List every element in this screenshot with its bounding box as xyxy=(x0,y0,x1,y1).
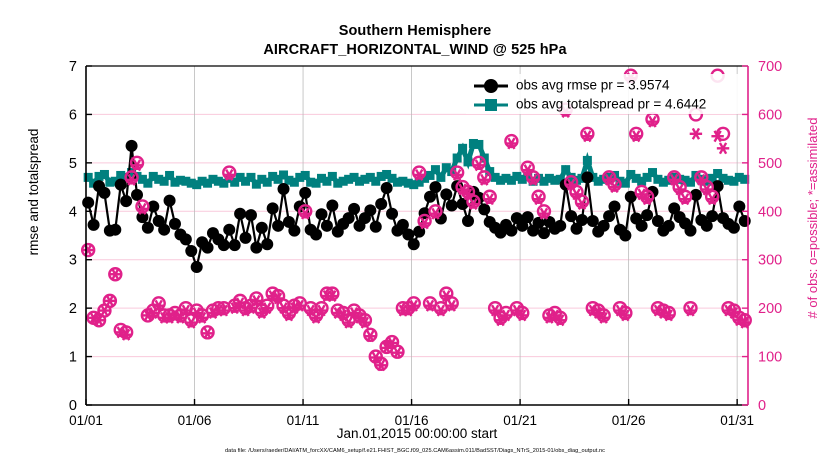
marker-totalspread xyxy=(458,144,467,153)
tick-label-left: 2 xyxy=(69,301,77,317)
marker-rmse xyxy=(505,225,517,237)
marker-obs-assimilated xyxy=(717,143,729,154)
marker-rmse xyxy=(169,218,181,230)
marker-rmse xyxy=(131,189,143,201)
marker-rmse xyxy=(191,261,203,273)
marker-rmse xyxy=(576,214,588,226)
marker-totalspread xyxy=(100,170,109,179)
legend-label: obs avg totalspread pr = 4.6442 xyxy=(516,97,706,112)
marker-rmse xyxy=(706,210,718,222)
legend-label: obs avg rmse pr = 3.9574 xyxy=(516,78,670,93)
marker-rmse xyxy=(202,242,214,254)
marker-rmse xyxy=(641,209,653,221)
tick-label-right: 500 xyxy=(758,156,782,172)
marker-rmse xyxy=(326,199,338,211)
marker-rmse xyxy=(348,203,360,215)
tick-label-x: 01/26 xyxy=(612,413,646,428)
marker-rmse xyxy=(229,239,241,251)
tick-label-left: 1 xyxy=(69,350,77,366)
marker-rmse xyxy=(158,224,170,236)
tick-label-right: 700 xyxy=(758,59,782,75)
marker-totalspread xyxy=(431,165,440,174)
marker-rmse xyxy=(267,202,279,214)
marker-rmse xyxy=(370,221,382,233)
marker-rmse xyxy=(310,229,322,241)
marker-totalspread xyxy=(453,154,462,163)
marker-rmse xyxy=(299,187,311,199)
marker-obs-assimilated xyxy=(690,128,702,139)
marker-rmse xyxy=(386,208,398,220)
marker-totalspread xyxy=(561,165,570,174)
marker-rmse xyxy=(462,215,474,227)
tick-label-x: 01/01 xyxy=(69,413,103,428)
marker-rmse xyxy=(478,203,490,215)
marker-rmse xyxy=(120,195,132,207)
marker-rmse xyxy=(728,222,740,234)
marker-rmse xyxy=(554,220,566,232)
marker-rmse xyxy=(663,220,675,232)
tick-label-right: 100 xyxy=(758,350,782,366)
marker-rmse xyxy=(98,187,110,199)
marker-rmse xyxy=(364,204,376,216)
plot-canvas: 01234567010020030040050060070001/0101/06… xyxy=(0,0,830,470)
marker-rmse xyxy=(218,239,230,251)
tick-label-x: 01/16 xyxy=(395,413,429,428)
marker-rmse xyxy=(109,224,121,236)
marker-rmse xyxy=(636,220,648,232)
marker-rmse xyxy=(115,179,127,191)
marker-rmse xyxy=(315,208,327,220)
marker-rmse xyxy=(288,225,300,237)
tick-label-right: 400 xyxy=(758,204,782,220)
marker-rmse xyxy=(180,233,192,245)
marker-rmse xyxy=(261,238,273,250)
marker-rmse xyxy=(587,215,599,227)
figure-root: Southern Hemisphere AIRCRAFT_HORIZONTAL_… xyxy=(0,0,830,470)
marker-rmse xyxy=(522,211,534,223)
marker-rmse xyxy=(739,215,751,227)
marker-totalspread xyxy=(474,140,483,149)
marker-totalspread xyxy=(464,157,473,166)
tick-label-left: 0 xyxy=(69,398,77,414)
marker-rmse xyxy=(684,225,696,237)
marker-rmse xyxy=(619,230,631,242)
marker-rmse xyxy=(142,222,154,234)
marker-rmse xyxy=(375,198,387,210)
marker-rmse xyxy=(381,182,393,194)
chart-legend[interactable]: obs avg rmse pr = 3.9574obs avg totalspr… xyxy=(466,74,738,114)
tick-label-left: 4 xyxy=(69,204,77,220)
marker-rmse xyxy=(88,219,100,231)
marker-rmse xyxy=(185,245,197,257)
legend-marker-square xyxy=(485,99,497,111)
marker-totalspread xyxy=(621,179,630,188)
marker-rmse xyxy=(126,140,138,152)
marker-rmse xyxy=(256,222,268,234)
marker-rmse xyxy=(565,210,577,222)
marker-rmse xyxy=(250,242,262,254)
tick-label-right: 200 xyxy=(758,301,782,317)
tick-label-x: 01/11 xyxy=(287,413,320,428)
tick-label-left: 7 xyxy=(69,59,77,75)
marker-rmse xyxy=(245,209,257,221)
tick-label-x: 01/06 xyxy=(178,413,212,428)
tick-label-right: 0 xyxy=(758,398,766,414)
marker-rmse xyxy=(408,238,420,250)
marker-rmse xyxy=(164,195,176,207)
marker-rmse xyxy=(240,232,252,244)
tick-label-right: 600 xyxy=(758,107,782,123)
legend-marker-circle xyxy=(484,79,498,93)
marker-rmse xyxy=(429,181,441,193)
marker-rmse xyxy=(278,183,290,195)
marker-totalspread xyxy=(436,173,445,182)
marker-rmse xyxy=(321,220,333,232)
tick-label-x: 01/31 xyxy=(720,413,754,428)
marker-rmse xyxy=(538,227,550,239)
marker-rmse xyxy=(272,220,284,232)
marker-rmse xyxy=(223,224,235,236)
tick-label-right: 300 xyxy=(758,253,782,269)
marker-rmse xyxy=(446,199,458,211)
tick-label-x: 01/21 xyxy=(503,413,537,428)
marker-rmse xyxy=(581,171,593,183)
tick-label-left: 5 xyxy=(69,156,77,172)
marker-rmse xyxy=(234,208,246,220)
tick-label-left: 6 xyxy=(69,107,77,123)
marker-rmse xyxy=(609,200,621,212)
marker-rmse xyxy=(440,188,452,200)
marker-rmse xyxy=(82,197,94,209)
tick-label-left: 3 xyxy=(69,253,77,269)
marker-rmse xyxy=(533,217,545,229)
marker-totalspread xyxy=(583,156,592,165)
